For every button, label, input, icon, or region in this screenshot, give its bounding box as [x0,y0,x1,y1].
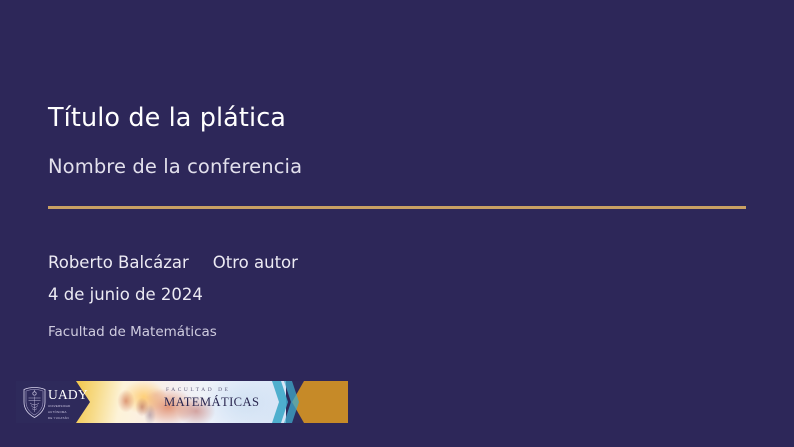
author-meta-block: Roberto BalcázarOtro autor 4 de junio de… [48,253,748,340]
uady-wordmark: UADY Universidad Autónoma de Yucatán [48,388,92,420]
banner-inner: UADY Universidad Autónoma de Yucatán Fac… [16,381,348,423]
faculty-name-label: Matemáticas [164,396,259,409]
uady-fullname-line1: Universidad [48,404,92,408]
uady-logo-zone: UADY Universidad Autónoma de Yucatán [16,381,94,423]
gold-divider-rule [48,206,746,209]
title-slide: Título de la plática Nombre de la confer… [0,0,794,447]
title-block: Título de la plática Nombre de la confer… [48,103,748,178]
uady-fullname-line2: Autónoma [48,410,92,414]
uady-abbreviation: UADY [48,388,92,402]
uady-fullname-line3: de Yucatán [48,416,92,420]
talk-date: 4 de junio de 2024 [48,285,748,305]
affiliation-label: Facultad de Matemáticas [48,324,748,340]
author-primary: Roberto Balcázar [48,253,189,272]
faculty-kicker-label: Facultad de [166,388,259,393]
author-list: Roberto BalcázarOtro autor [48,253,748,273]
faculty-lockup: Facultad de Matemáticas [164,388,259,410]
author-secondary: Otro autor [213,253,298,272]
conference-subtitle: Nombre de la conferencia [48,155,748,178]
uady-crest-icon [22,387,47,418]
banner-gold-block [292,381,348,423]
institutional-banner: UADY Universidad Autónoma de Yucatán Fac… [16,381,348,423]
page-title: Título de la plática [48,103,748,133]
